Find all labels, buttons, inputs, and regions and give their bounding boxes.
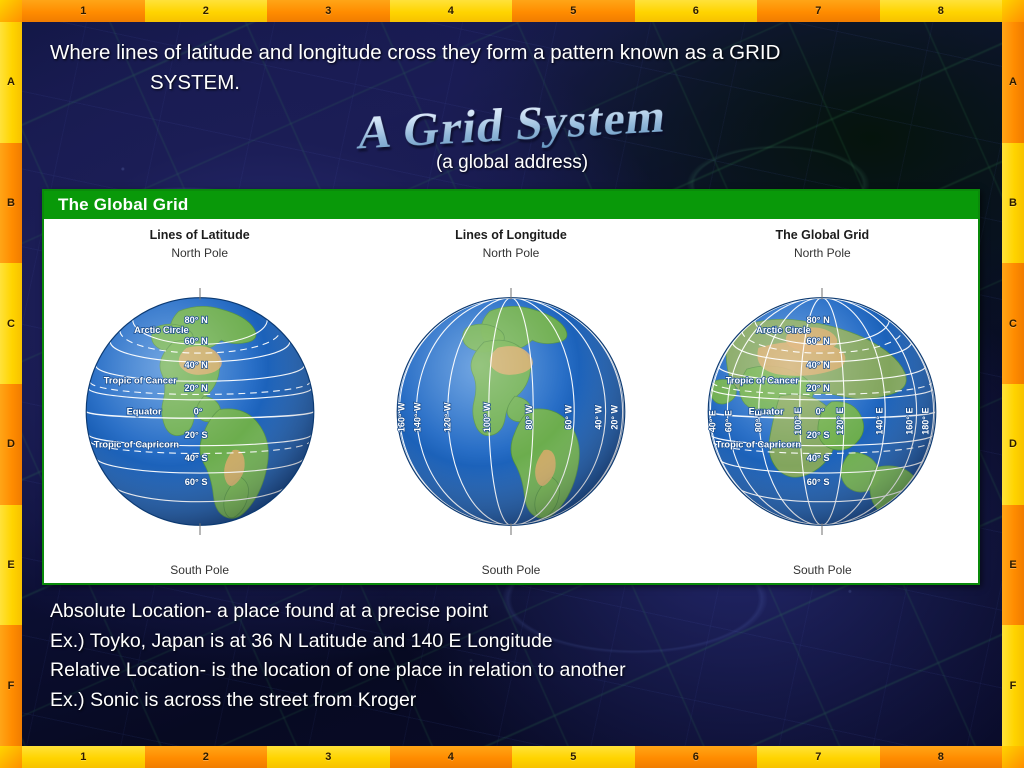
frame-left-marker-C: C — [0, 263, 22, 384]
frame-left-marker-E: E — [0, 505, 22, 626]
slide-canvas: 1234567812345678ABCDEFABCDEF Where lines… — [0, 0, 1024, 768]
frame-top-marker-2-label: 2 — [203, 5, 209, 17]
frame-bottom-marker-1-label: 1 — [80, 751, 86, 763]
latitude-label: Arctic Circle — [134, 325, 189, 335]
north-pole-label: North Pole — [483, 246, 540, 260]
latitude-label: 40° S — [807, 453, 830, 463]
frame-top-marker-3: 3 — [267, 0, 390, 22]
frame-top-marker-7-label: 7 — [815, 5, 821, 17]
frame-left-marker-E-label: E — [7, 559, 14, 571]
globe-column-title: Lines of Latitude — [150, 228, 250, 242]
frame-right-marker-D-label: D — [1009, 438, 1017, 450]
frame-bottom-marker-4: 4 — [390, 746, 513, 768]
headline-line-2: SYSTEM. — [50, 68, 985, 98]
frame-top-marker-2: 2 — [145, 0, 268, 22]
longitude-label: 80° E — [754, 410, 764, 432]
frame-top-marker-7: 7 — [757, 0, 880, 22]
frame-top-marker-1-label: 1 — [80, 5, 86, 17]
globe-illustration: 80° NArctic Circle60° N40° NTropic of Ca… — [687, 288, 957, 535]
latitude-label: Tropic of Cancer — [103, 375, 176, 385]
frame-left-marker-F-label: F — [8, 680, 15, 692]
north-pole-label: North Pole — [171, 246, 228, 260]
longitude-label: 160° W — [396, 402, 406, 432]
definitions-text-block: Absolute Location- a place found at a pr… — [50, 597, 990, 715]
frame-bottom-marker-5-label: 5 — [570, 751, 576, 763]
south-pole-label: South Pole — [482, 563, 541, 577]
frame-right-marker-A-label: A — [1009, 76, 1017, 88]
globe-column-1: Lines of LatitudeNorth Pole80° NArctic C… — [44, 219, 355, 583]
frame-top-marker-4-label: 4 — [448, 5, 454, 17]
frame-right-marker-F: F — [1002, 625, 1024, 746]
latitude-label: 60° S — [807, 477, 830, 487]
frame-corner-br — [1002, 746, 1024, 768]
longitude-label: 140° W — [413, 402, 423, 432]
latitude-label: 60° N — [807, 336, 831, 346]
headline-line-1: Where lines of latitude and longitude cr… — [50, 41, 780, 64]
latitude-label: 80° N — [807, 315, 831, 325]
latitude-label: 60° S — [184, 477, 207, 487]
north-pole-label: North Pole — [794, 246, 851, 260]
south-pole-label: South Pole — [793, 563, 852, 577]
frame-bottom-marker-7: 7 — [757, 746, 880, 768]
definition-relative-location: Relative Location- is the location of on… — [50, 656, 990, 686]
global-grid-figure-panel: The Global Grid Lines of LatitudeNorth P… — [42, 189, 980, 585]
latitude-label: Equator — [126, 407, 161, 417]
figure-header-bar: The Global Grid — [44, 191, 978, 219]
longitude-label: 40° E — [708, 410, 718, 432]
longitude-label: 160° E — [905, 408, 915, 435]
latitude-label: 0° — [816, 407, 825, 417]
longitude-label: 100° W — [482, 402, 492, 432]
frame-top-marker-4: 4 — [390, 0, 513, 22]
globe-column-3: The Global GridNorth Pole80° NArctic Cir… — [667, 219, 978, 583]
frame-top-marker-3-label: 3 — [325, 5, 331, 17]
latitude-label: 20° N — [184, 383, 208, 393]
latitude-label: 20° S — [807, 430, 830, 440]
globe-wrapper: 80° NArctic Circle60° N40° NTropic of Ca… — [687, 260, 957, 563]
longitude-label: 80° W — [524, 404, 534, 429]
latitude-label: Arctic Circle — [756, 325, 811, 335]
frame-right-marker-E: E — [1002, 505, 1024, 626]
longitude-label: 60° W — [563, 404, 573, 429]
frame-top-marker-6: 6 — [635, 0, 758, 22]
globe-wrapper: 80° NArctic Circle60° N40° NTropic of Ca… — [65, 260, 335, 563]
frame-right-marker-E-label: E — [1009, 559, 1016, 571]
latitude-label: Tropic of Capricorn — [93, 439, 179, 449]
latitude-label: 80° N — [184, 315, 208, 325]
latitude-label: 0° — [193, 407, 202, 417]
frame-bottom-marker-2-label: 2 — [203, 751, 209, 763]
frame-bottom-marker-6-label: 6 — [693, 751, 699, 763]
slide-subtitle: (a global address) — [0, 152, 1024, 174]
longitude-label: 140° E — [875, 408, 885, 435]
longitude-label: 120° W — [443, 402, 453, 432]
frame-corner-tr — [1002, 0, 1024, 22]
frame-corner-tl — [0, 0, 22, 22]
frame-top-marker-8-label: 8 — [938, 5, 944, 17]
figure-globe-columns: Lines of LatitudeNorth Pole80° NArctic C… — [44, 219, 978, 583]
frame-left-marker-B-label: B — [7, 197, 15, 209]
frame-top-marker-1: 1 — [22, 0, 145, 22]
frame-left-marker-D-label: D — [7, 438, 15, 450]
frame-top-marker-5-label: 5 — [570, 5, 576, 17]
definition-absolute-location: Absolute Location- a place found at a pr… — [50, 597, 990, 627]
frame-right-marker-D: D — [1002, 384, 1024, 505]
latitude-label: 20° S — [184, 430, 207, 440]
globe-column-2: Lines of LongitudeNorth Pole160° W140° W… — [355, 219, 666, 583]
longitude-label: 180° E — [921, 408, 931, 435]
frame-bottom-marker-6: 6 — [635, 746, 758, 768]
frame-corner-bl — [0, 746, 22, 768]
latitude-label: 40° N — [184, 360, 208, 370]
frame-bottom-marker-8-label: 8 — [938, 751, 944, 763]
longitude-label: 60° E — [724, 410, 734, 432]
globe-illustration: 80° NArctic Circle60° N40° NTropic of Ca… — [65, 288, 335, 535]
frame-left-marker-C-label: C — [7, 318, 15, 330]
globe-wrapper: 160° W140° W120° W100° W80° W60° W40° W2… — [376, 260, 646, 563]
latitude-label: 40° S — [184, 453, 207, 463]
longitude-label: 100° E — [793, 408, 803, 435]
frame-right-marker-C-label: C — [1009, 318, 1017, 330]
frame-bottom-marker-3: 3 — [267, 746, 390, 768]
latitude-label: 60° N — [184, 336, 208, 346]
example-absolute-location: Ex.) Toyko, Japan is at 36 N Latitude an… — [50, 627, 990, 657]
headline-text: Where lines of latitude and longitude cr… — [50, 38, 985, 98]
figure-header-title: The Global Grid — [58, 195, 189, 215]
longitude-label: 40° W — [593, 404, 603, 429]
frame-right-marker-B-label: B — [1009, 197, 1017, 209]
longitude-label: 20° W — [610, 404, 620, 429]
frame-bottom-marker-5: 5 — [512, 746, 635, 768]
frame-bottom-marker-4-label: 4 — [448, 751, 454, 763]
south-pole-label: South Pole — [170, 563, 229, 577]
frame-right-marker-A: A — [1002, 22, 1024, 143]
globe-column-title: The Global Grid — [775, 228, 869, 242]
globe-column-title: Lines of Longitude — [455, 228, 567, 242]
frame-top-marker-6-label: 6 — [693, 5, 699, 17]
frame-left-marker-D: D — [0, 384, 22, 505]
frame-bottom-marker-8: 8 — [880, 746, 1003, 768]
latitude-label: 20° N — [807, 383, 831, 393]
longitude-label: 120° E — [836, 408, 846, 435]
frame-left-marker-F: F — [0, 625, 22, 746]
frame-bottom-marker-3-label: 3 — [325, 751, 331, 763]
frame-left-marker-A-label: A — [7, 76, 15, 88]
latitude-label: Tropic of Cancer — [726, 375, 799, 385]
globe-illustration: 160° W140° W120° W100° W80° W60° W40° W2… — [376, 288, 646, 535]
latitude-label: 40° N — [807, 360, 831, 370]
frame-top-marker-8: 8 — [880, 0, 1003, 22]
globe-shading — [397, 298, 625, 526]
example-relative-location: Ex.) Sonic is across the street from Kro… — [50, 686, 990, 716]
frame-right-marker-C: C — [1002, 263, 1024, 384]
frame-bottom-marker-2: 2 — [145, 746, 268, 768]
frame-bottom-marker-1: 1 — [22, 746, 145, 768]
frame-right-marker-F-label: F — [1010, 680, 1017, 692]
frame-bottom-marker-7-label: 7 — [815, 751, 821, 763]
frame-top-marker-5: 5 — [512, 0, 635, 22]
frame-left-marker-A: A — [0, 22, 22, 143]
latitude-label: Tropic of Capricorn — [716, 439, 802, 449]
